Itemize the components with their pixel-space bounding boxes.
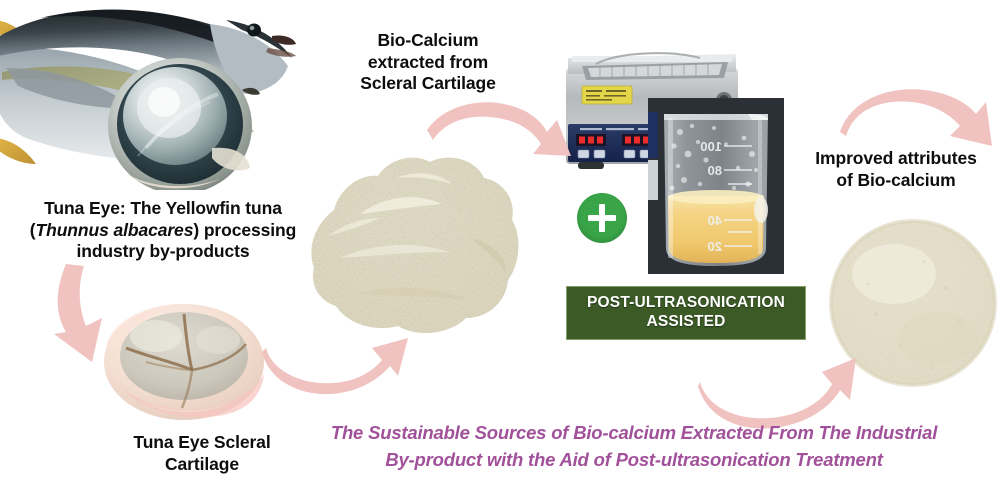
label-biocalcium-line-1: Bio-Calcium — [378, 30, 479, 50]
label-tuna-eye-line-3: industry by-products — [76, 241, 249, 261]
plus-icon — [577, 193, 627, 243]
caption-line-2: By-product with the Aid of Post-ultrason… — [385, 449, 882, 470]
banner-line-1: POST-ULTRASONICATION — [587, 294, 785, 311]
photo-beaker-slurry: 100 80 40 20 — [648, 98, 784, 274]
label-tuna-eye-line-1: Tuna Eye: The Yellowfin tuna — [44, 198, 282, 218]
label-cartilage-line-2: Cartilage — [165, 454, 239, 474]
label-biocalcium-line-3: Scleral Cartilage — [360, 73, 495, 93]
species-name-italic: Thunnus albacares — [36, 220, 194, 240]
graphical-abstract-canvas: 100 80 40 20 — [0, 0, 1000, 495]
label-tuna-eye-line-2-close: ) processing — [193, 220, 296, 240]
label-improved-attributes: Improved attributes of Bio-calcium — [792, 148, 1000, 191]
label-biocalcium-line-2: extracted from — [368, 52, 488, 72]
label-improved-line-2: of Bio-calcium — [836, 170, 955, 190]
label-improved-line-1: Improved attributes — [815, 148, 976, 168]
label-biocalcium: Bio-Calcium extracted from Scleral Carti… — [318, 30, 538, 95]
banner-line-2: ASSISTED — [646, 313, 725, 330]
arrow-fish-to-cartilage — [50, 262, 160, 372]
arrow-cartilage-to-powder — [262, 322, 412, 402]
banner-post-ultrasonication: POST-ULTRASONICATION ASSISTED — [566, 286, 806, 340]
svg-text:100: 100 — [700, 139, 722, 154]
svg-text:20: 20 — [708, 239, 722, 254]
arrow-powder-to-bath — [425, 86, 575, 166]
banner-text: POST-ULTRASONICATION ASSISTED — [587, 294, 785, 332]
label-cartilage-line-1: Tuna Eye Scleral — [133, 432, 270, 452]
photo-tuna-fish — [0, 0, 296, 190]
svg-text:80: 80 — [708, 163, 722, 178]
label-tuna-eye: Tuna Eye: The Yellowfin tuna (Thunnus al… — [8, 198, 318, 263]
svg-text:40: 40 — [708, 213, 722, 228]
figure-caption: The Sustainable Sources of Bio-calcium E… — [268, 420, 1000, 474]
caption-line-1: The Sustainable Sources of Bio-calcium E… — [331, 422, 937, 443]
